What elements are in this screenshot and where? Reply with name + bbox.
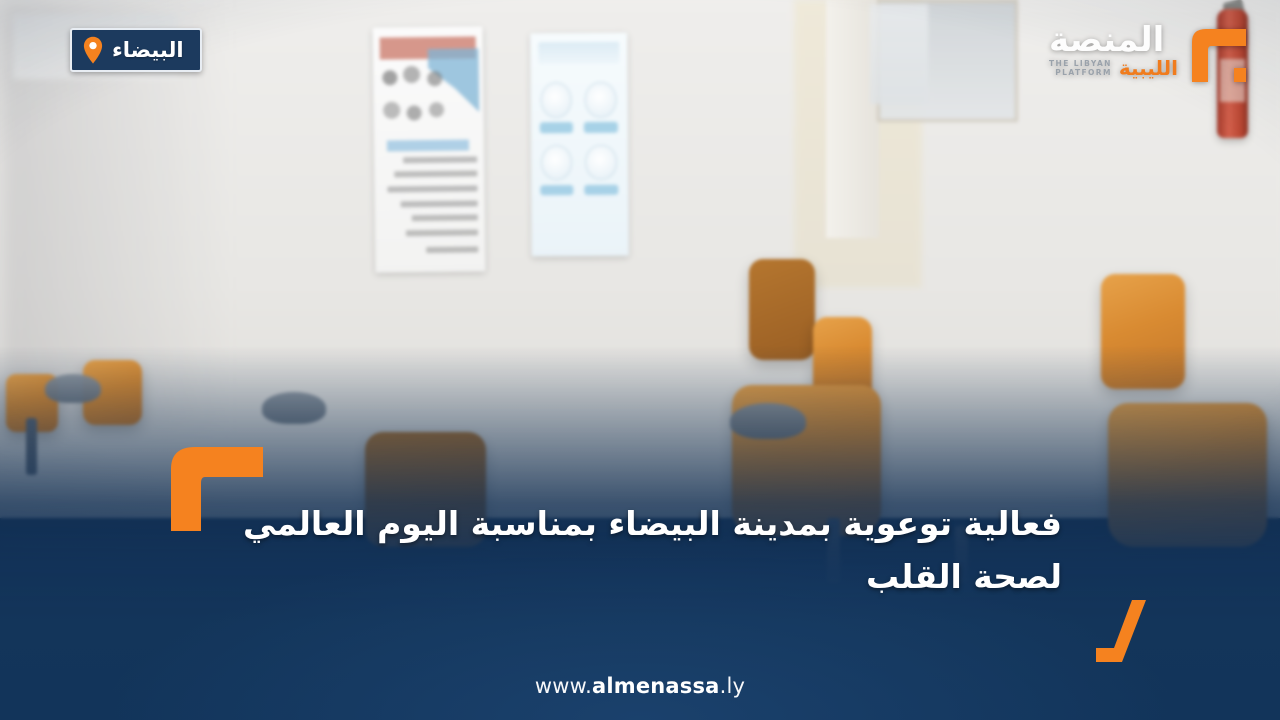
logo-latin-text: THE LIBYAN PLATFORM (1049, 59, 1112, 78)
headline-line-2: لصحة القلب (100, 550, 1062, 603)
almenassa-monogram-icon (1184, 16, 1258, 88)
logo-arabic-sub: الليبية (1119, 58, 1178, 78)
url-prefix: www. (535, 674, 592, 698)
logo-arabic-main: المنصة (1049, 24, 1164, 56)
logo-latin-line2: PLATFORM (1055, 68, 1112, 77)
corner-bracket-bottom-right-icon (1096, 600, 1168, 662)
page-title: فعالية توعوية بمدينة البيضاء بمناسبة الي… (100, 497, 1062, 604)
map-pin-icon (82, 36, 104, 64)
logo-latin-line1: THE LIBYAN (1049, 59, 1112, 68)
url-tld: .ly (720, 674, 746, 698)
website-url[interactable]: www.almenassa.ly (0, 674, 1280, 698)
logo-wordmark: المنصة الليبية THE LIBYAN PLATFORM (1049, 16, 1178, 78)
news-card: البيضاء المنصة الليبية THE LIBYAN PLATFO… (0, 0, 1280, 720)
headline-line-1: فعالية توعوية بمدينة البيضاء بمناسبة الي… (100, 497, 1062, 550)
location-badge[interactable]: البيضاء (70, 28, 202, 72)
url-name: almenassa (592, 674, 720, 698)
location-label: البيضاء (112, 40, 184, 61)
brand-logo[interactable]: المنصة الليبية THE LIBYAN PLATFORM (1049, 16, 1258, 88)
